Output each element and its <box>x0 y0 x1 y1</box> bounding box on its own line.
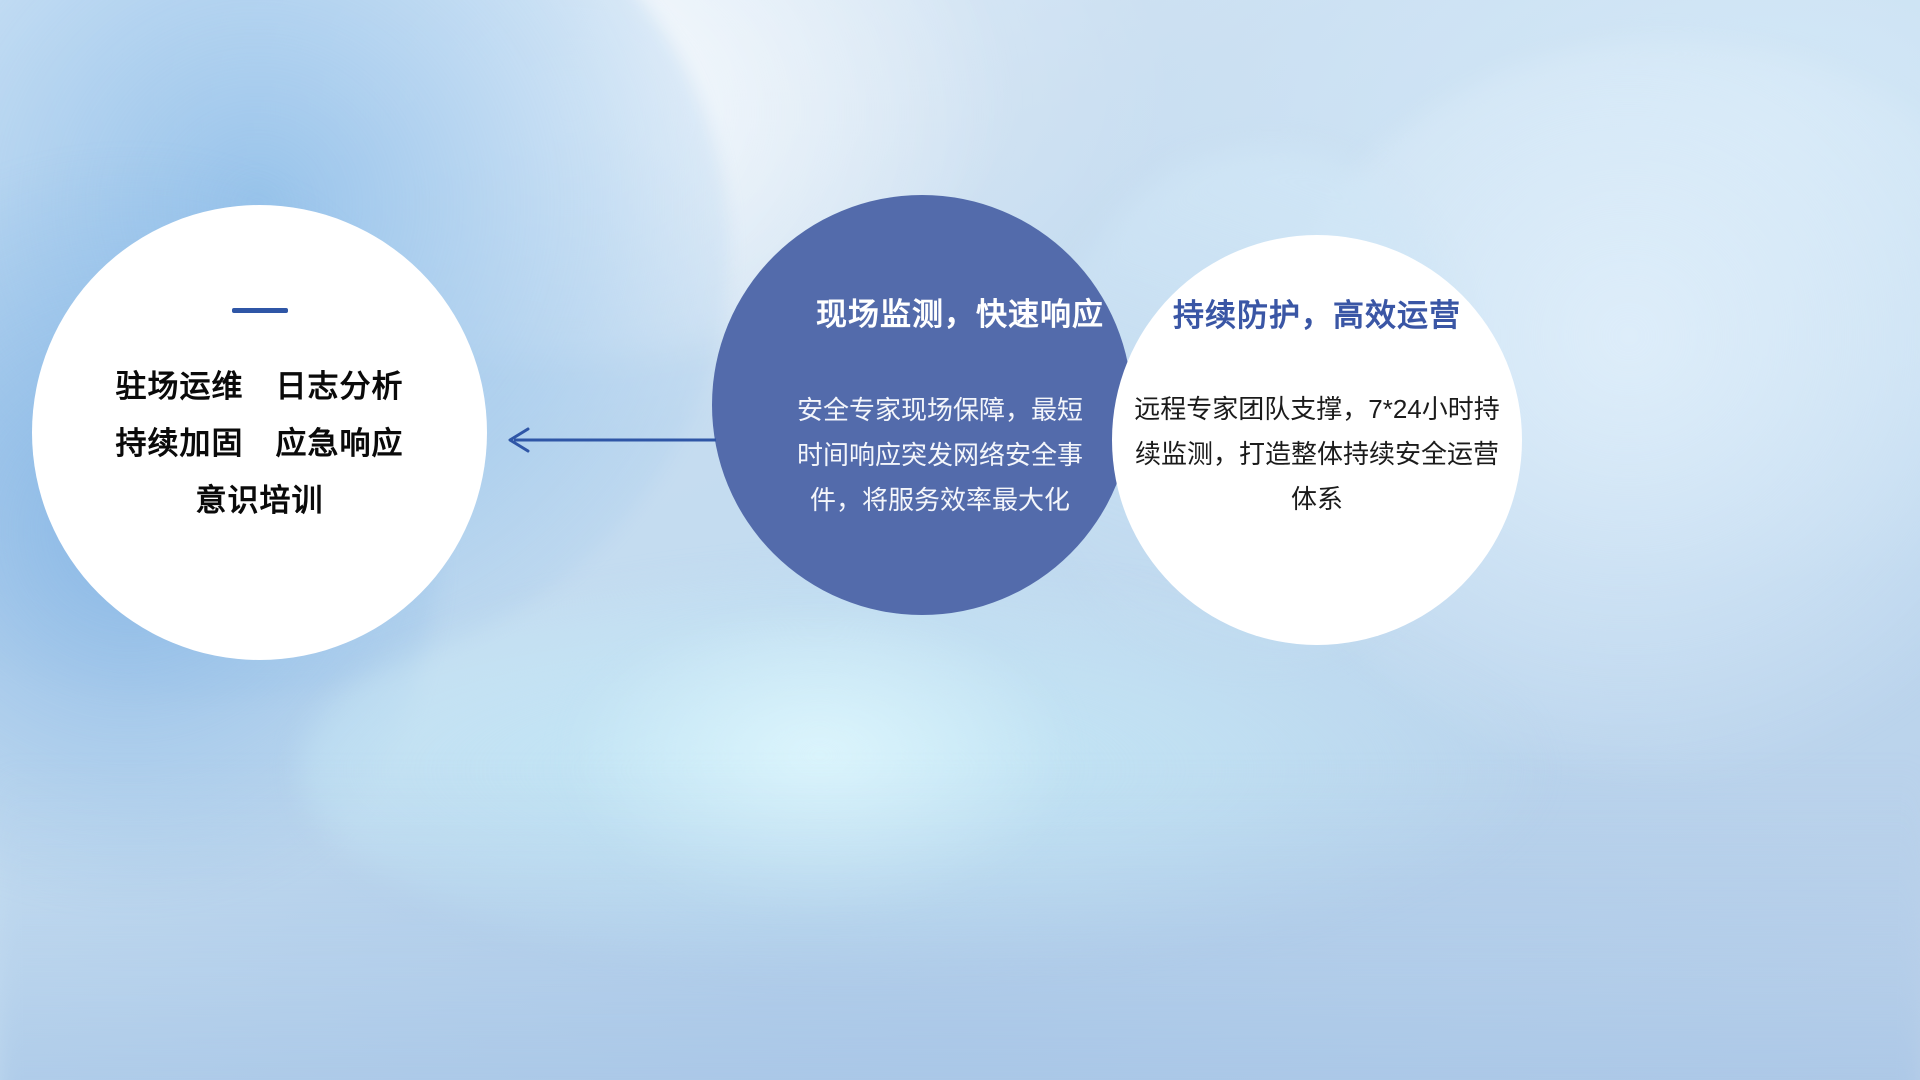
right-circle-title: 持续防护，高效运营 <box>1173 290 1461 335</box>
middle-circle-body: 安全专家现场保障，最短时间响应突发网络安全事件，将服务效率最大化 <box>790 388 1090 523</box>
background-fade-bottom <box>0 760 1920 1080</box>
service-tag-row: 驻场运维 日志分析 <box>32 358 487 415</box>
right-circle-card: 持续防护，高效运营 远程专家团队支撑，7*24小时持续监测，打造整体持续安全运营… <box>1112 235 1522 645</box>
service-tag-list: 驻场运维 日志分析 持续加固 应急响应 意识培训 <box>32 358 487 529</box>
slide-canvas: 驻场运维 日志分析 持续加固 应急响应 意识培训 现场监测，快速响应 安全专家现… <box>0 0 1920 1080</box>
right-circle-body: 远程专家团队支撑，7*24小时持续监测，打造整体持续安全运营体系 <box>1132 387 1502 522</box>
service-tag-row: 持续加固 应急响应 <box>32 415 487 472</box>
separator-dash <box>232 308 288 313</box>
left-circle-card: 驻场运维 日志分析 持续加固 应急响应 意识培训 <box>32 205 487 660</box>
left-arrow-icon <box>488 418 718 462</box>
service-tag-row: 意识培训 <box>32 472 487 529</box>
middle-circle-card: 现场监测，快速响应 安全专家现场保障，最短时间响应突发网络安全事件，将服务效率最… <box>712 195 1132 615</box>
middle-circle-content: 现场监测，快速响应 安全专家现场保障，最短时间响应突发网络安全事件，将服务效率最… <box>712 195 1132 615</box>
middle-circle-title: 现场监测，快速响应 <box>816 289 1104 334</box>
